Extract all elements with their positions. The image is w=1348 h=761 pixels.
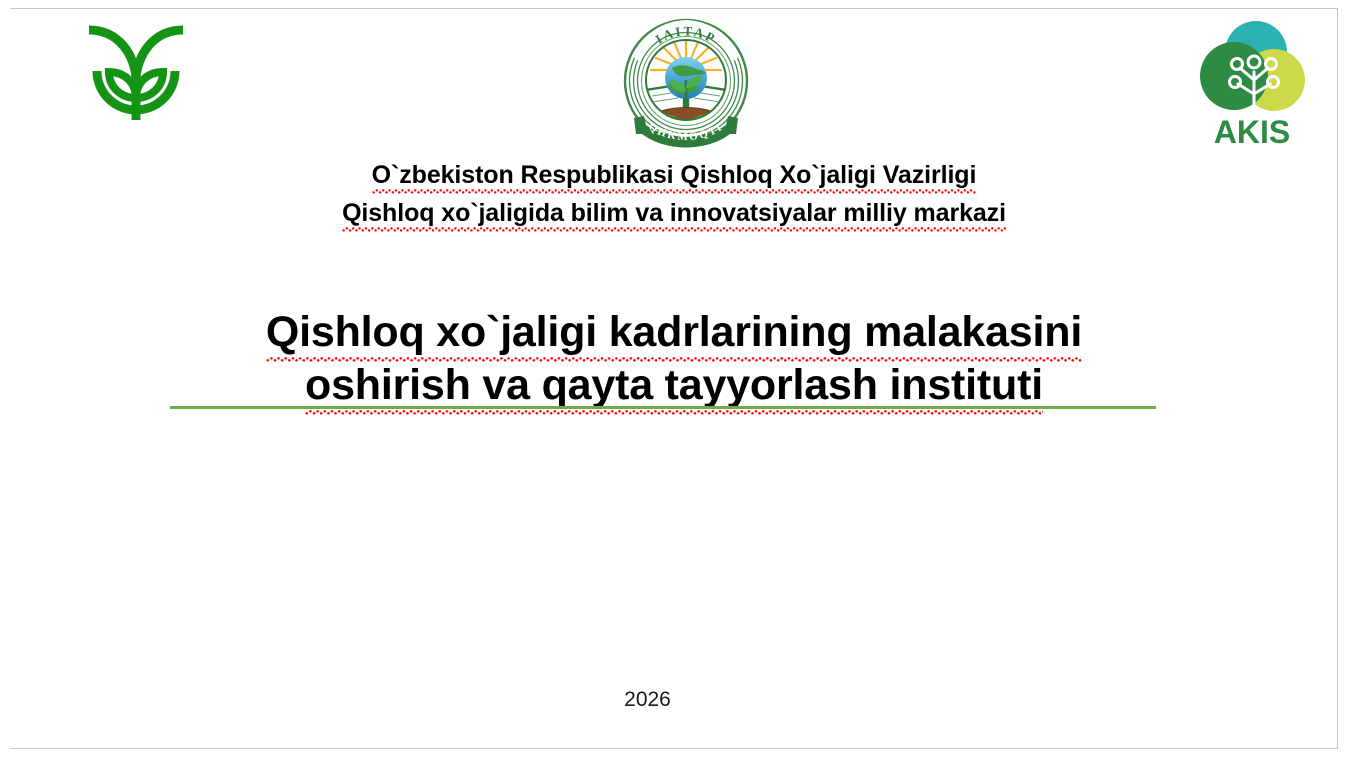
- akis-wordmark: AKIS: [1214, 114, 1290, 148]
- ministry-line-1: O`zbekiston Respublikasi Qishloq Xo`jali…: [0, 156, 1348, 194]
- title-divider: [170, 406, 1156, 409]
- akis-icon: AKIS: [1194, 18, 1310, 148]
- page-title-line-2: oshirish va qayta tayyorlash instituti: [0, 359, 1348, 412]
- sprout-icon: [84, 24, 188, 124]
- akis-logo: AKIS: [1194, 18, 1310, 148]
- year-text: 2026: [624, 688, 671, 711]
- ministry-header: O`zbekiston Respublikasi Qishloq Xo`jali…: [0, 156, 1348, 232]
- sprout-logo: [84, 24, 188, 124]
- page-frame-bottom: [10, 748, 1338, 749]
- page-frame-top: [10, 8, 1338, 9]
- page-title: Qishloq xo`jaligi kadrlarining malakasin…: [0, 306, 1348, 412]
- emblem-seal-icon: IAITAP QHKMOQTI: [622, 18, 750, 148]
- qhkmoqti-emblem: IAITAP QHKMOQTI: [622, 18, 750, 148]
- title-slide: IAITAP QHKMOQTI: [0, 0, 1348, 761]
- ministry-line-2: Qishloq xo`jaligida bilim va innovatsiya…: [0, 194, 1348, 232]
- page-title-line-1: Qishloq xo`jaligi kadrlarining malakasin…: [0, 306, 1348, 359]
- footer-year: 2026: [0, 687, 1295, 713]
